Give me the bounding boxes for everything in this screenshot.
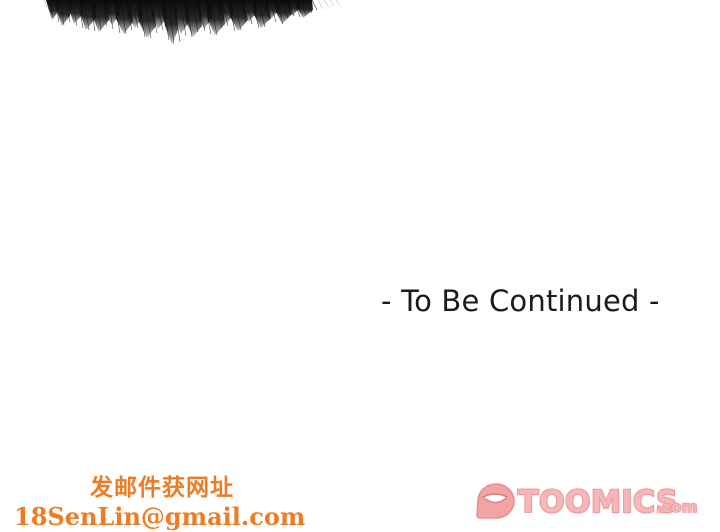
watermark-email-text: 18SenLin@gmail.com (14, 502, 314, 532)
hair-strands-icon (0, 0, 360, 60)
watermark-chinese-text: 发邮件获网址 (90, 474, 314, 502)
to-be-continued-caption: - To Be Continued - (381, 281, 660, 321)
watermark: 发邮件获网址 18SenLin@gmail.com (14, 474, 314, 532)
toomics-wordmark: TOOMICS (518, 485, 678, 520)
toomics-logo[interactable]: TOOMICS .com (474, 480, 706, 524)
winking-eye-circle-icon (477, 484, 514, 518)
hair-artwork (0, 0, 360, 60)
comic-page: - To Be Continued - 发邮件获网址 18SenLin@gmai… (0, 0, 720, 532)
toomics-dotcom: .com (656, 498, 698, 516)
